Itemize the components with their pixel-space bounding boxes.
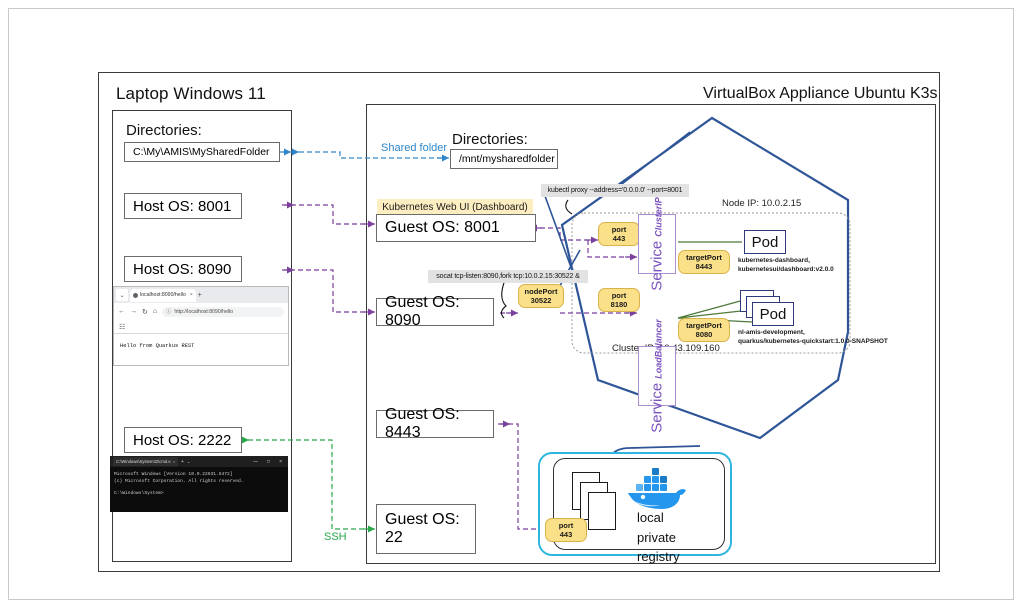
guest-shared-folder-path: /mnt/mysharedfolder xyxy=(450,149,558,169)
apps-icon[interactable]: ☷ xyxy=(119,323,125,331)
pod-quarkus-caption: nl-amis-development, quarkus/kubernetes-… xyxy=(738,329,888,347)
service-1-kind: Service xyxy=(649,241,666,291)
registry-port-title: port xyxy=(559,521,574,530)
terminal-chevron-down-icon[interactable]: ⌄ xyxy=(187,459,190,464)
socat-command: socat tcp-listen:8090,fork tcp:10.0.2.15… xyxy=(428,270,588,283)
tab-list-icon[interactable]: ⌄ xyxy=(116,289,128,301)
guest-port-8001-box: Guest OS: 8001 xyxy=(376,214,536,242)
terminal-tab-bar: C:\Windows\System32\cmd.e × + ⌄ — □ × xyxy=(110,456,288,467)
address-bar-url: http://localhost:8090/hello xyxy=(174,309,233,315)
browser-tab-bar: ⌄ localhost:8090/hello × + xyxy=(114,287,288,303)
guest-port-22-box: Guest OS: 22 xyxy=(376,504,476,554)
service-1-label-group: Service ClusterIP xyxy=(649,197,666,291)
service-1-port-value: 443 xyxy=(613,234,626,243)
service-2-type: LoadBalancer xyxy=(654,319,664,379)
host-port-2222-label: Host OS: 2222 xyxy=(125,432,231,449)
host-port-8001-label: Host OS: 8001 xyxy=(125,198,231,215)
pod-dashboard-caption: kubernetes-dashboard, kubernetesui/dashb… xyxy=(738,257,834,275)
service-2-loadbalancer-box: Service LoadBalancer xyxy=(638,346,676,406)
node-port-value: 30522 xyxy=(531,296,552,305)
browser-tab[interactable]: localhost:8090/hello × xyxy=(130,289,196,302)
service-2-target-port-title: targetPort xyxy=(686,321,722,330)
terminal-window[interactable]: C:\Windows\System32\cmd.e × + ⌄ — □ × Mi… xyxy=(110,456,288,512)
browser-page-content: Hello from Quarkus REST xyxy=(114,334,288,358)
pod-quarkus: Pod xyxy=(752,302,794,326)
browser-tab-title: localhost:8090/hello xyxy=(140,292,186,298)
terminal-maximize-button[interactable]: □ xyxy=(264,459,273,465)
home-icon[interactable]: ⌂ xyxy=(153,308,157,315)
host-shared-folder-path-text: C:\My\AMIS\MySharedFolder xyxy=(125,146,270,158)
service-2-target-port-value: 8080 xyxy=(696,330,713,339)
terminal-prompt: C:\Windows\System> xyxy=(114,490,284,497)
terminal-minimize-button[interactable]: — xyxy=(250,459,261,465)
service-2-kind: Service xyxy=(649,383,666,433)
terminal-line-2: (c) Microsoft Corporation. All rights re… xyxy=(114,478,284,485)
guest-port-8443-box: Guest OS: 8443 xyxy=(376,410,494,438)
service-2-target-port-pill: targetPort 8080 xyxy=(678,318,730,342)
registry-line-3: registry xyxy=(637,547,680,567)
host-port-8090-label: Host OS: 8090 xyxy=(125,261,231,278)
browser-nav-bar: ← → ↻ ⌂ ⓘ http://localhost:8090/hello xyxy=(114,303,288,320)
guest-port-22-label: Guest OS: 22 xyxy=(377,511,475,547)
service-1-target-port-title: targetPort xyxy=(686,253,722,262)
guest-port-8001-label: Guest OS: 8001 xyxy=(377,219,500,237)
terminal-close-button[interactable]: × xyxy=(276,459,285,465)
registry-line-2: private xyxy=(637,528,680,548)
guest-port-8443-label: Guest OS: 8443 xyxy=(377,406,493,442)
site-info-icon[interactable]: ⓘ xyxy=(166,308,171,315)
pod-quarkus-caption-line2: quarkus/kubernetes-quickstart:1.0.0-SNAP… xyxy=(738,338,888,347)
pod-dashboard-label: Pod xyxy=(752,234,779,251)
guest-directories-label: Directories: xyxy=(452,131,528,148)
service-2-port-title: port xyxy=(612,291,627,300)
laptop-panel-title: Laptop Windows 11 xyxy=(116,84,266,104)
new-tab-icon[interactable]: + xyxy=(198,292,202,299)
terminal-new-tab-icon[interactable]: + xyxy=(181,459,184,465)
pod-dashboard-caption-line1: kubernetes-dashboard, xyxy=(738,257,834,266)
dashboard-tag: Kubernetes Web UI (Dashboard) xyxy=(377,199,533,215)
host-directories-label: Directories: xyxy=(126,122,202,139)
pod-dashboard: Pod xyxy=(744,230,786,254)
host-port-2222-box: Host OS: 2222 xyxy=(124,427,242,453)
service-2-port-pill: port 8180 xyxy=(598,288,640,312)
host-port-8001-box: Host OS: 8001 xyxy=(124,193,242,219)
pod-dashboard-caption-line2: kubernetesui/dashboard:v2.0.0 xyxy=(738,266,834,275)
service-1-target-port-pill: targetPort 8443 xyxy=(678,250,730,274)
registry-line-1: local xyxy=(637,508,680,528)
guest-port-8090-label: Guest OS: 8090 xyxy=(377,294,493,330)
node-port-pill: nodePort 30522 xyxy=(518,284,564,308)
terminal-close-tab-icon[interactable]: × xyxy=(173,459,175,464)
browser-bookmark-bar: ☷ xyxy=(114,320,288,334)
pod-quarkus-caption-line1: nl-amis-development, xyxy=(738,329,888,338)
reload-icon[interactable]: ↻ xyxy=(142,308,148,316)
address-bar[interactable]: ⓘ http://localhost:8090/hello xyxy=(162,307,284,317)
terminal-tab[interactable]: C:\Windows\System32\cmd.e × xyxy=(113,457,178,466)
host-port-8090-box: Host OS: 8090 xyxy=(124,256,242,282)
kubectl-proxy-command: kubectl proxy --address='0.0.0.0' --port… xyxy=(541,184,689,197)
terminal-tab-title: C:\Windows\System32\cmd.e xyxy=(116,459,171,464)
registry-port-pill: port 443 xyxy=(545,518,587,542)
forward-icon[interactable]: → xyxy=(130,308,137,315)
ssh-link-label: SSH xyxy=(324,531,347,543)
shared-folder-link-label: Shared folder xyxy=(381,142,447,154)
guest-port-8090-box: Guest OS: 8090 xyxy=(376,298,494,326)
service-1-type: ClusterIP xyxy=(654,197,664,237)
pod-quarkus-label: Pod xyxy=(760,306,787,323)
document-sheet-front-icon xyxy=(588,492,616,530)
service-1-target-port-value: 8443 xyxy=(696,262,713,271)
service-2-port-value: 8180 xyxy=(611,300,628,309)
registry-port-value: 443 xyxy=(560,530,573,539)
node-ip-label: Node IP: 10.0.2.15 xyxy=(722,198,801,209)
back-icon[interactable]: ← xyxy=(118,308,125,315)
service-2-label-group: Service LoadBalancer xyxy=(649,319,666,433)
node-port-title: nodePort xyxy=(525,287,558,296)
browser-window[interactable]: ⌄ localhost:8090/hello × + ← → ↻ ⌂ ⓘ htt… xyxy=(113,286,289,366)
virtualbox-panel-title: VirtualBox Appliance Ubuntu K3s xyxy=(703,85,938,103)
terminal-body[interactable]: Microsoft Windows [Version 10.0.22631.54… xyxy=(110,467,288,501)
service-1-clusterip-box: Service ClusterIP xyxy=(638,214,676,274)
registry-text-block: local private registry xyxy=(637,508,680,567)
close-tab-icon[interactable]: × xyxy=(190,292,193,298)
terminal-line-1: Microsoft Windows [Version 10.0.22631.54… xyxy=(114,471,284,478)
guest-shared-folder-path-text: /mnt/mysharedfolder xyxy=(451,153,555,165)
service-1-port-pill: port 443 xyxy=(598,222,640,246)
host-shared-folder-path: C:\My\AMIS\MySharedFolder xyxy=(124,142,280,162)
favicon-icon xyxy=(133,293,138,298)
service-1-port-title: port xyxy=(612,225,627,234)
